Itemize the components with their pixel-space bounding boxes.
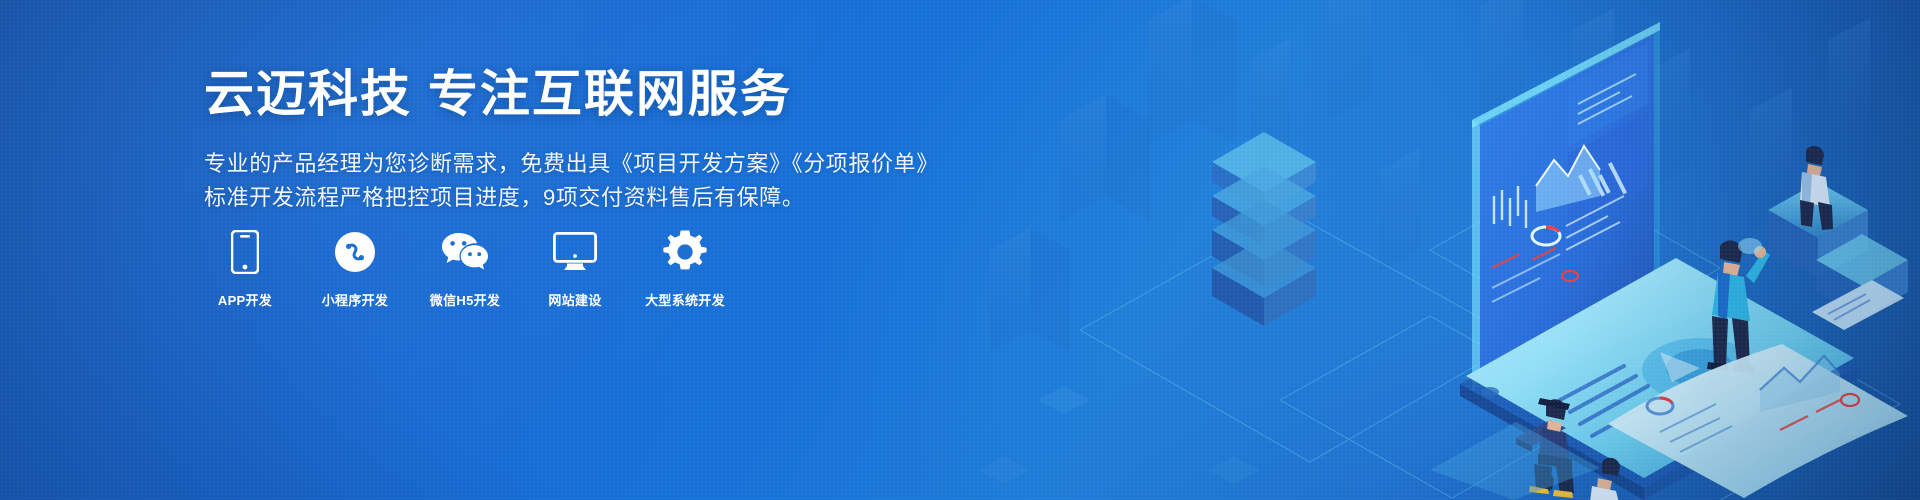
dashboard-screen bbox=[1472, 22, 1660, 392]
service-item-website[interactable]: 网站建设 bbox=[536, 230, 614, 309]
service-label: 小程序开发 bbox=[322, 290, 389, 309]
standing-person-pointing bbox=[1707, 238, 1770, 373]
two-people-talking bbox=[1536, 458, 1620, 500]
service-label: 微信H5开发 bbox=[430, 290, 500, 309]
floating-mini-screen bbox=[1812, 280, 1904, 330]
service-label: 大型系统开发 bbox=[645, 290, 725, 309]
monitor-icon bbox=[553, 230, 597, 274]
person-on-cube bbox=[1768, 146, 1868, 278]
wechat-icon bbox=[441, 230, 489, 274]
service-item-wechat-h5[interactable]: 微信H5开发 bbox=[426, 230, 504, 309]
seated-person-with-laptop bbox=[1516, 398, 1574, 498]
gear-icon bbox=[663, 230, 707, 274]
tablet-platform bbox=[1460, 258, 1860, 500]
hero-copy: 云迈科技 专注互联网服务 专业的产品经理为您诊断需求，免费出具《项目开发方案》《… bbox=[204, 68, 964, 215]
floor-grid bbox=[1080, 176, 1900, 500]
service-label: APP开发 bbox=[218, 290, 272, 309]
bottom-platform-glow bbox=[1430, 422, 1600, 500]
mini-program-icon bbox=[334, 230, 376, 274]
subtitle-line-1: 专业的产品经理为您诊断需求，免费出具《项目开发方案》《分项报价单》 bbox=[204, 147, 964, 181]
small-cube-platform bbox=[1816, 234, 1908, 318]
hero-banner: 云迈科技 专注互联网服务 专业的产品经理为您诊断需求，免费出具《项目开发方案》《… bbox=[0, 0, 1920, 500]
service-label: 网站建设 bbox=[548, 290, 601, 309]
service-item-app[interactable]: APP开发 bbox=[206, 230, 284, 309]
service-item-large-system[interactable]: 大型系统开发 bbox=[646, 230, 724, 309]
service-item-mini-program[interactable]: 小程序开发 bbox=[316, 230, 394, 309]
illustration-container bbox=[960, 0, 1920, 500]
server-stack bbox=[1212, 132, 1316, 326]
mobile-phone-icon bbox=[231, 230, 259, 274]
data-chart-sheet bbox=[1608, 344, 1908, 498]
background-skyline-bars bbox=[990, 0, 1870, 352]
subtitle-line-2: 标准开发流程严格把控项目进度，9项交付资料售后有保障。 bbox=[204, 181, 964, 215]
floating-diamonds bbox=[978, 126, 1632, 484]
service-list: APP开发 小程序开发 bbox=[206, 230, 724, 309]
page-title: 云迈科技 专注互联网服务 bbox=[204, 68, 964, 121]
